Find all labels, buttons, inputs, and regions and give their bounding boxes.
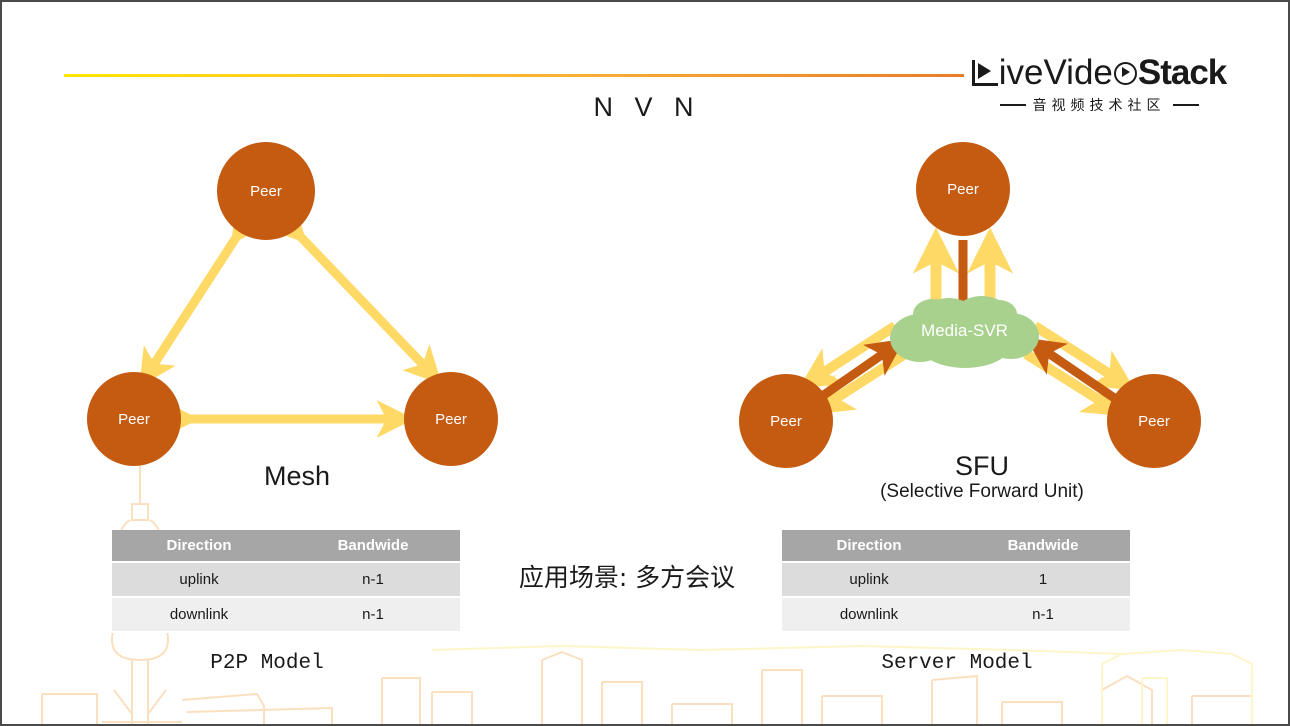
- peer-node: Peer: [217, 142, 315, 240]
- cell-direction: uplink: [782, 562, 956, 597]
- server-bandwidth-table: Direction Bandwide uplink 1 downlink n-1: [782, 530, 1130, 633]
- peer-label: Peer: [1138, 413, 1170, 430]
- server-model-label: Server Model: [847, 652, 1067, 675]
- p2p-model-label: P2P Model: [157, 652, 377, 675]
- cell-direction: downlink: [112, 597, 286, 632]
- peer-label: Peer: [947, 181, 979, 198]
- circle-play-icon: [1114, 62, 1137, 85]
- cell-bandwide: n-1: [286, 562, 460, 597]
- table-row: uplink n-1: [112, 562, 460, 597]
- table-header-row: Direction Bandwide: [112, 530, 460, 562]
- table-row: downlink n-1: [112, 597, 460, 632]
- peer-label: Peer: [435, 411, 467, 428]
- peer-label: Peer: [118, 411, 150, 428]
- media-server-cloud: Media-SVR: [887, 292, 1042, 370]
- table-header-direction: Direction: [782, 530, 956, 562]
- peer-label: Peer: [250, 183, 282, 200]
- cell-bandwide: n-1: [956, 597, 1130, 632]
- peer-node: Peer: [1107, 374, 1201, 468]
- cell-direction: uplink: [112, 562, 286, 597]
- logo-text-video: Vide: [1043, 54, 1112, 92]
- logo-wordmark: iveVideStack: [966, 54, 1232, 92]
- sfu-title: SFU: [872, 451, 1092, 482]
- peer-node: Peer: [916, 142, 1010, 236]
- header-accent-rule: [64, 74, 964, 77]
- cell-direction: downlink: [782, 597, 956, 632]
- page-title: N V N: [2, 92, 1290, 123]
- mesh-title: Mesh: [187, 461, 407, 492]
- play-triangle-icon: [972, 60, 998, 86]
- table-header-direction: Direction: [112, 530, 286, 562]
- peer-node: Peer: [87, 372, 181, 466]
- scenario-label: 应用场景: 多方会议: [492, 558, 762, 594]
- peer-node: Peer: [404, 372, 498, 466]
- peer-node: Peer: [739, 374, 833, 468]
- table-row: uplink 1: [782, 562, 1130, 597]
- table-header-bandwide: Bandwide: [286, 530, 460, 562]
- table-header-bandwide: Bandwide: [956, 530, 1130, 562]
- cell-bandwide: 1: [956, 562, 1130, 597]
- p2p-bandwidth-table: Direction Bandwide uplink n-1 downlink n…: [112, 530, 460, 633]
- cell-bandwide: n-1: [286, 597, 460, 632]
- table-row: downlink n-1: [782, 597, 1130, 632]
- logo-text-stack: Stack: [1138, 54, 1226, 92]
- peer-label: Peer: [770, 413, 802, 430]
- sfu-subtitle: (Selective Forward Unit): [827, 481, 1137, 503]
- media-server-label: Media-SVR: [887, 292, 1042, 370]
- logo-text-live: ive: [999, 54, 1044, 92]
- slide-canvas: iveVideStack 音视频技术社区 N V N: [0, 0, 1290, 726]
- table-header-row: Direction Bandwide: [782, 530, 1130, 562]
